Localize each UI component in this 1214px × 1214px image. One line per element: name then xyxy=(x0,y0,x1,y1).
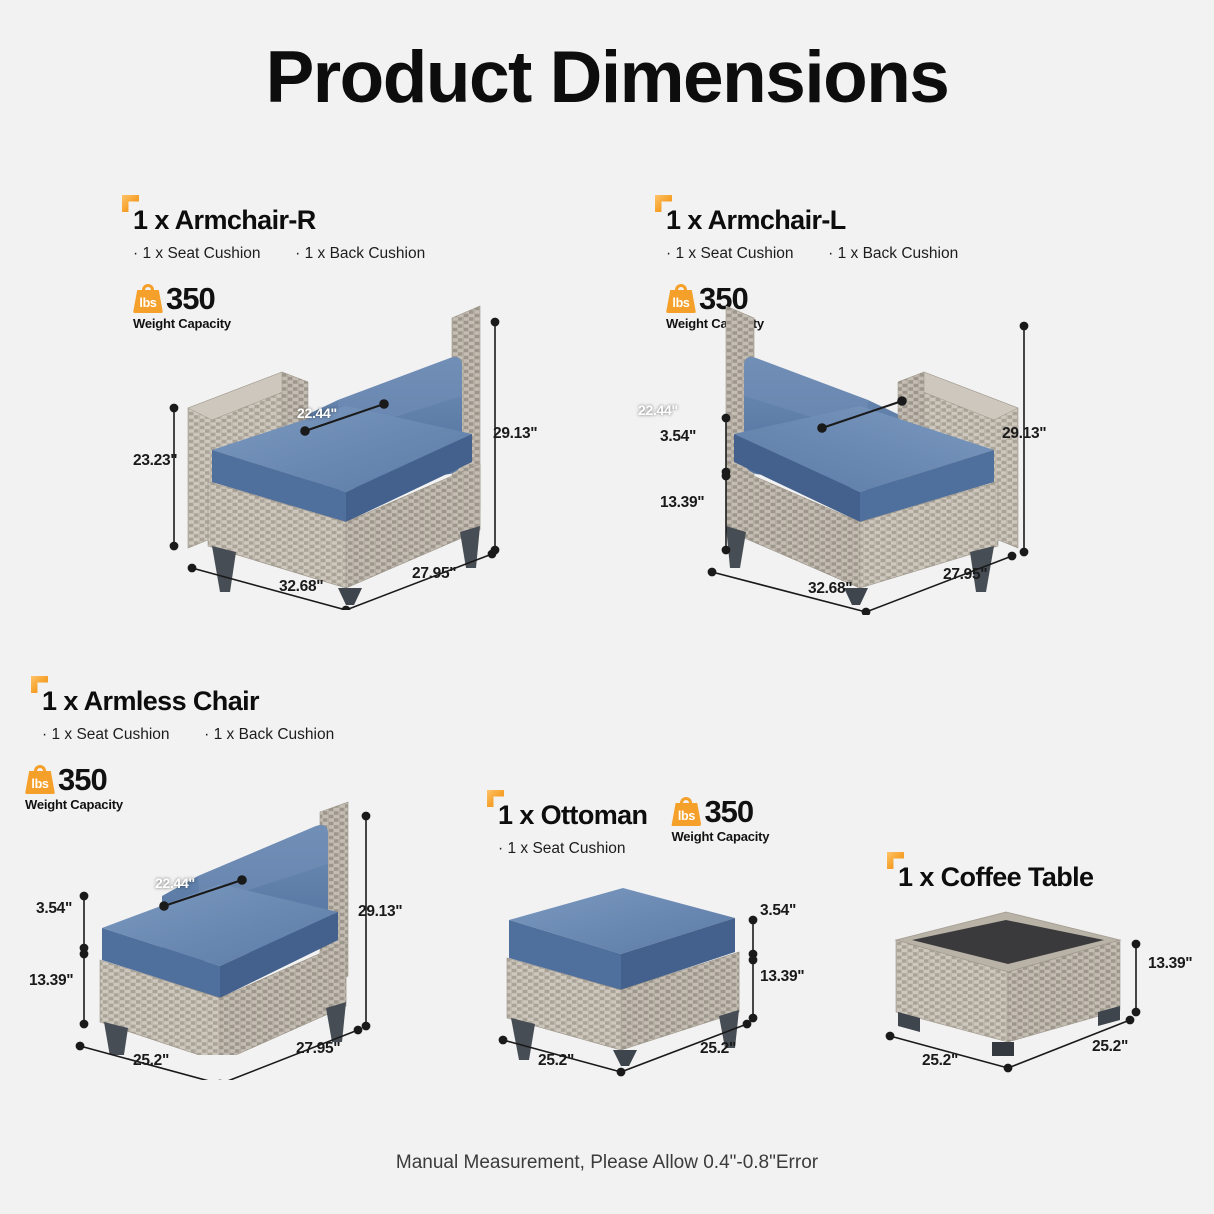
armless-chair-header: 1 x Armless Chair xyxy=(42,686,334,717)
panel-ottoman: 1 x Ottoman · 1 x Seat Cushion lbs 350 xyxy=(498,800,769,858)
ottoman-depth: 25.2" xyxy=(700,1040,736,1058)
armchair-r-title: 1 x Armchair-R xyxy=(133,205,425,236)
coffee-table-depth: 25.2" xyxy=(1092,1038,1128,1056)
armchair-r-depth: 27.95" xyxy=(412,565,456,583)
armless-chair-base-height: 13.39" xyxy=(29,972,73,990)
weight-icon: lbs xyxy=(25,765,55,794)
armless-chair-width: 25.2" xyxy=(133,1052,169,1070)
armchair-l-figure xyxy=(676,300,1056,610)
armchair-l-header: 1 x Armchair-L xyxy=(666,205,958,236)
weight-unit-label: lbs xyxy=(25,777,55,791)
armchair-l-width: 32.68" xyxy=(808,580,852,598)
cushion-back-label: · 1 x Back Cushion xyxy=(295,245,425,262)
armchair-r-width: 32.68" xyxy=(279,578,323,596)
panel-coffee-table: 1 x Coffee Table xyxy=(898,862,1093,893)
weight-value: 350 xyxy=(704,796,753,827)
ottoman-title: 1 x Ottoman xyxy=(498,800,647,831)
armchair-l-base-height: 13.39" xyxy=(660,494,704,512)
armchair-r-cushions: · 1 x Seat Cushion · 1 x Back Cushion xyxy=(133,245,425,263)
cushion-seat-label: · 1 x Seat Cushion xyxy=(498,840,626,857)
ottoman-header: 1 x Ottoman xyxy=(498,800,647,831)
ottoman-width: 25.2" xyxy=(538,1052,574,1070)
armchair-l-title: 1 x Armchair-L xyxy=(666,205,958,236)
armchair-l-seat-diagonal: 22.44" xyxy=(638,402,678,418)
armchair-r-figure xyxy=(150,300,530,610)
coffee-table-title: 1 x Coffee Table xyxy=(898,862,1093,893)
armless-chair-depth: 27.95" xyxy=(296,1040,340,1058)
armchair-r-left-height: 23.23" xyxy=(133,452,177,470)
weight-unit-label: lbs xyxy=(671,809,701,823)
ottoman-weight-badge: lbs 350 Weight Capacity xyxy=(671,796,769,844)
armless-chair-cushion-thickness: 3.54" xyxy=(36,900,72,918)
coffee-table-height: 13.39" xyxy=(1148,955,1192,973)
armchair-l-right-height: 29.13" xyxy=(1002,425,1046,443)
coffee-table-width: 25.2" xyxy=(922,1052,958,1070)
cushion-seat-label: · 1 x Seat Cushion xyxy=(42,726,170,743)
armchair-r-header: 1 x Armchair-R xyxy=(133,205,425,236)
cushion-seat-label: · 1 x Seat Cushion xyxy=(133,245,261,262)
ottoman-cushions: · 1 x Seat Cushion xyxy=(498,840,647,858)
weight-icon: lbs xyxy=(671,797,701,826)
cushion-back-label: · 1 x Back Cushion xyxy=(828,245,958,262)
armless-chair-title: 1 x Armless Chair xyxy=(42,686,334,717)
ottoman-base-height: 13.39" xyxy=(760,968,804,986)
armchair-l-depth: 27.95" xyxy=(943,566,987,584)
product-dimensions-page: Product Dimensions 1 x Armchair-R · 1 x … xyxy=(0,0,1214,1214)
armchair-r-right-height: 29.13" xyxy=(493,425,537,443)
armchair-r-seat-diagonal: 22.44" xyxy=(297,405,337,421)
weight-caption: Weight Capacity xyxy=(671,829,769,844)
armless-chair-figure xyxy=(70,780,390,1055)
ottoman-cushion-thickness: 3.54" xyxy=(760,902,796,920)
armchair-l-cushion-thickness: 3.54" xyxy=(660,428,696,446)
armless-chair-right-height: 29.13" xyxy=(358,903,402,921)
armless-chair-seat-diagonal: 22.44" xyxy=(155,875,195,891)
coffee-table-header: 1 x Coffee Table xyxy=(898,862,1093,893)
cushion-back-label: · 1 x Back Cushion xyxy=(204,726,334,743)
page-title: Product Dimensions xyxy=(0,36,1214,119)
cushion-seat-label: · 1 x Seat Cushion xyxy=(666,245,794,262)
footer-note: Manual Measurement, Please Allow 0.4"-0.… xyxy=(0,1152,1214,1174)
armchair-l-cushions: · 1 x Seat Cushion · 1 x Back Cushion xyxy=(666,245,958,263)
armless-chair-cushions: · 1 x Seat Cushion · 1 x Back Cushion xyxy=(42,726,334,744)
